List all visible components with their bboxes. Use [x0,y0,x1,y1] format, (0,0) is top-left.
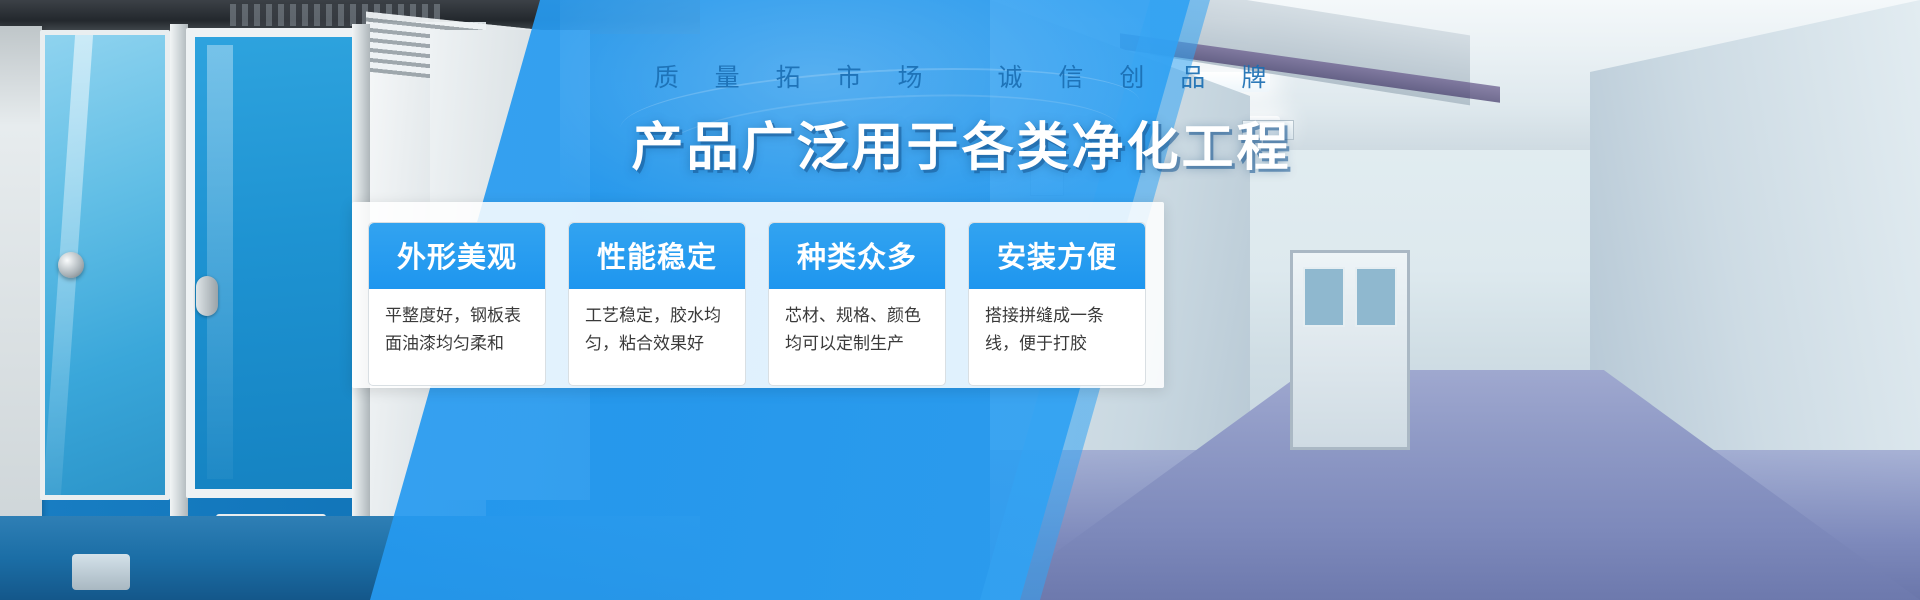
feature-card[interactable]: 安装方便 搭接拼缝成一条线，便于打胶 [968,222,1146,386]
door-window-left [1303,267,1345,327]
door-lock-icon [58,252,84,278]
feature-card[interactable]: 外形美观 平整度好，钢板表面油漆均匀柔和 [368,222,546,386]
feature-card-body: 平整度好，钢板表面油漆均匀柔和 [369,289,545,385]
feature-card-title: 安装方便 [969,223,1145,289]
feature-card-body: 芯材、规格、颜色均可以定制生产 [769,289,945,385]
feature-card[interactable]: 性能稳定 工艺稳定，胶水均匀，粘合效果好 [568,222,746,386]
promo-banner: 质 量 拓 市 场 诚 信 创 品 牌 产品广泛用于各类净化工程 外形美观 平整… [0,0,1920,600]
feature-card-body: 搭接拼缝成一条线，便于打胶 [969,289,1145,385]
feature-card-title: 性能稳定 [569,223,745,289]
door-handle-icon [196,276,218,316]
feature-card-title: 外形美观 [369,223,545,289]
feature-cards: 外形美观 平整度好，钢板表面油漆均匀柔和 性能稳定 工艺稳定，胶水均匀，粘合效果… [368,222,1146,386]
feature-card-body: 工艺稳定，胶水均匀，粘合效果好 [569,289,745,385]
banner-text-block: 质 量 拓 市 场 诚 信 创 品 牌 产品广泛用于各类净化工程 [0,62,1920,180]
left-photo-floor [0,516,700,600]
banner-subtitle: 质 量 拓 市 场 诚 信 创 品 牌 [0,62,1920,95]
banner-headline: 产品广泛用于各类净化工程 [0,105,1920,180]
corridor-double-door [1290,250,1410,450]
feature-card-title: 种类众多 [769,223,945,289]
feature-card[interactable]: 种类众多 芯材、规格、颜色均可以定制生产 [768,222,946,386]
floor-object [72,554,130,590]
door-window-right [1355,267,1397,327]
